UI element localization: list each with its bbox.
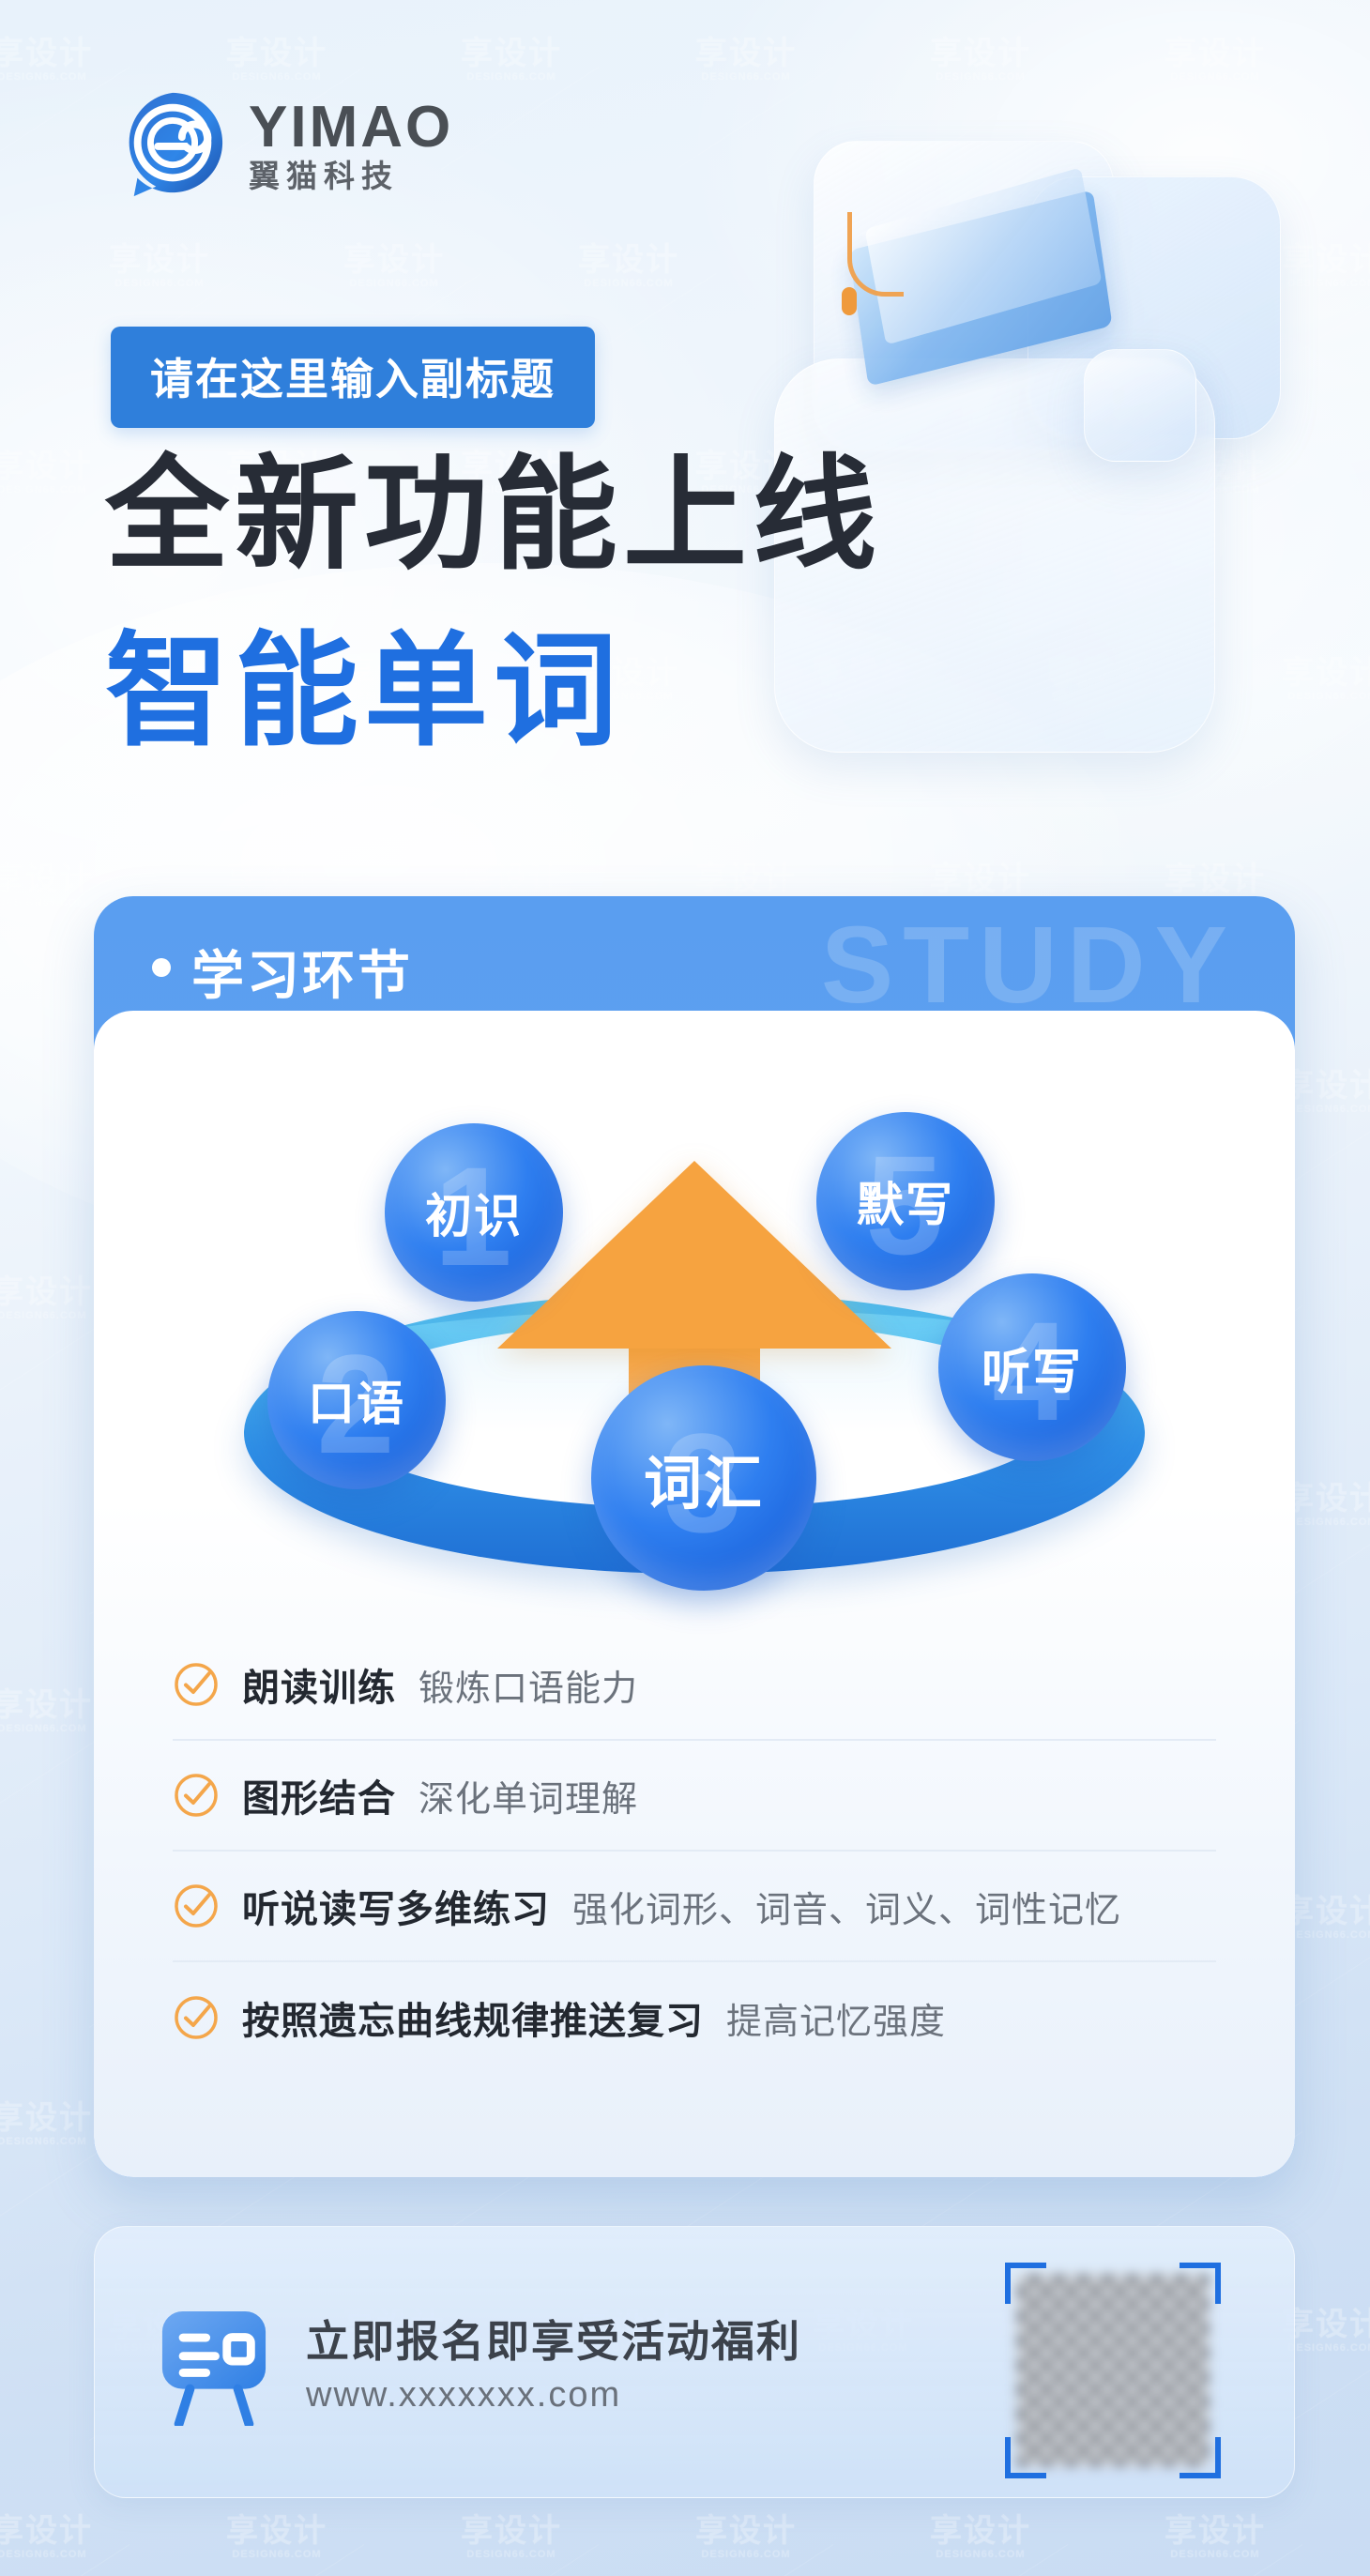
watermark-text: 享设计DESIGN66.COM [0, 38, 122, 83]
glass-decoration-group [802, 141, 1370, 779]
watermark-text: 享设计DESIGN66.COM [1135, 38, 1295, 83]
bubble-label: 默写 [857, 1167, 954, 1235]
watermark-slash [0, 67, 129, 170]
study-section-title: 学习环节 [191, 934, 413, 1010]
graduation-cap-icon [859, 190, 1140, 405]
brand-subname: 翼猫科技 [249, 160, 453, 191]
list-item: 图形结合 深化单词理解 [173, 1741, 1216, 1852]
diagram-bubble-1[interactable]: 1 初识 [385, 1123, 563, 1302]
watermark-text: 享设计DESIGN66.COM [549, 244, 708, 289]
list-item: 按照遗忘曲线规律推送复习 提高记忆强度 [173, 1962, 1216, 2073]
feature-desc: 提高记忆强度 [726, 1992, 946, 2044]
watermark-text: 享设计DESIGN66.COM [80, 244, 239, 289]
feature-title: 听说读写多维练习 [242, 1879, 550, 1933]
watermark-text: 享设计DESIGN66.COM [197, 2515, 357, 2560]
cta-url: www.xxxxxxx.com [306, 2375, 621, 2416]
cta-title: 立即报名即享受活动福利 [306, 2308, 801, 2370]
feature-title: 图形结合 [242, 1768, 396, 1822]
feature-title: 按照遗忘曲线规律推送复习 [242, 1990, 704, 2045]
feature-title: 朗读训练 [242, 1657, 396, 1712]
check-circle-icon [173, 1882, 220, 1929]
watermark-text: 享设计DESIGN66.COM [901, 2515, 1060, 2560]
watermark-text: 享设计DESIGN66.COM [666, 38, 826, 83]
watermark-slash [910, 2544, 1068, 2576]
qr-corner-top-right [1180, 2263, 1221, 2304]
list-item: 朗读训练 锻炼口语能力 [173, 1630, 1216, 1741]
qr-corner-top-left [1005, 2263, 1046, 2304]
watermark-text: 享设计DESIGN66.COM [901, 38, 1060, 83]
brand-logo: YIMAO 翼猫科技 [117, 89, 453, 200]
watermark-text: 享设计DESIGN66.COM [314, 244, 474, 289]
feature-desc: 锻炼口语能力 [419, 1659, 638, 1711]
bubble-label: 初识 [425, 1179, 523, 1246]
hero-subtitle: 请在这里输入副标题 [111, 327, 595, 428]
hero-title-line1: 全新功能上线 [105, 450, 882, 581]
diagram-bubble-3[interactable]: 3 词汇 [591, 1365, 816, 1591]
diagram-bubble-5[interactable]: 5 默写 [816, 1112, 995, 1290]
watermark-text: 享设计DESIGN66.COM [432, 38, 591, 83]
watermark-slash [0, 2544, 129, 2576]
bubble-label: 口语 [308, 1366, 405, 1434]
watermark-slash [676, 2544, 833, 2576]
whiteboard-easel-icon [159, 2309, 269, 2426]
check-circle-icon [173, 1772, 220, 1819]
study-section-card: 学习环节 STUDY 1 初识 2 口语 [94, 896, 1295, 2177]
watermark-text: 享设计DESIGN66.COM [0, 2515, 122, 2560]
watermark-slash [206, 2544, 364, 2576]
feature-list: 朗读训练 锻炼口语能力 图形结合 深化单词理解 [173, 1630, 1216, 2073]
study-section-body: 1 初识 2 口语 3 词汇 4 听写 5 默写 [94, 1011, 1295, 2177]
brand-name: YIMAO [249, 99, 453, 157]
watermark-slash [1145, 2544, 1302, 2576]
check-circle-icon [173, 1994, 220, 2041]
feature-desc: 强化词形、词音、词义、词性记忆 [572, 1881, 1121, 1932]
watermark-text: 享设计DESIGN66.COM [1135, 2515, 1295, 2560]
bubble-label: 听写 [982, 1333, 1083, 1403]
watermark-text: 享设计DESIGN66.COM [0, 450, 122, 495]
circle-e-speech-bubble-icon [117, 89, 228, 200]
list-item: 听说读写多维练习 强化词形、词音、词义、词性记忆 [173, 1852, 1216, 1962]
feature-desc: 深化单词理解 [419, 1770, 638, 1821]
qr-corner-bottom-left [1005, 2437, 1046, 2478]
watermark-slash [441, 67, 599, 170]
diagram-bubble-2[interactable]: 2 口语 [267, 1311, 446, 1489]
watermark-text: 享设计DESIGN66.COM [666, 2515, 826, 2560]
bullet-dot-icon [152, 958, 171, 977]
bubble-label: 词汇 [644, 1436, 764, 1520]
poster-root: 享设计DESIGN66.COM享设计DESIGN66.COM享设计DESIGN6… [0, 0, 1370, 2576]
qr-corner-bottom-right [1180, 2437, 1221, 2478]
hero-title-line2: 智能单词 [105, 627, 623, 757]
qr-code-icon[interactable] [1005, 2263, 1221, 2478]
watermark-text: 享设计DESIGN66.COM [197, 38, 357, 83]
study-ghost-text: STUDY [821, 902, 1237, 1028]
check-circle-icon [173, 1661, 220, 1708]
learning-cycle-diagram: 1 初识 2 口语 3 词汇 4 听写 5 默写 [94, 1011, 1295, 1611]
watermark-slash [441, 2544, 599, 2576]
diagram-bubble-4[interactable]: 4 听写 [938, 1273, 1126, 1461]
footer-cta-card: 立即报名即享受活动福利 www.xxxxxxx.com [94, 2226, 1295, 2498]
watermark-text: 享设计DESIGN66.COM [432, 2515, 591, 2560]
